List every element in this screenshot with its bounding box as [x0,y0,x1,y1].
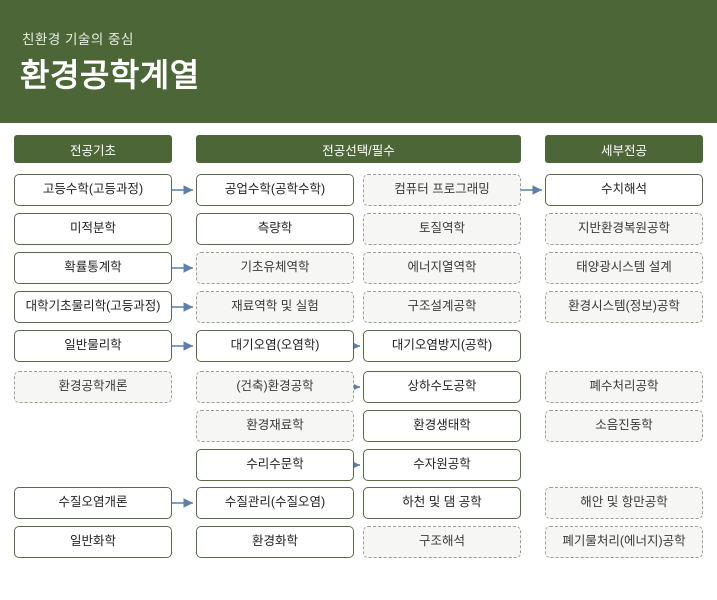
course-node[interactable]: 환경재료학 [196,410,354,442]
diagram-root: 친환경 기술의 중심 환경공학계열 전공기초전공선택/필수세부전공 고등수학(고… [0,0,717,600]
course-node[interactable]: 구조설계공학 [363,291,521,323]
course-node[interactable]: 재료역학 및 실험 [196,291,354,323]
course-node[interactable]: 측량학 [196,213,354,245]
course-node[interactable]: 수리수문학 [196,449,354,481]
course-node[interactable]: 대학기초물리학(고등과정) [14,291,172,323]
course-node[interactable]: 소음진동학 [545,410,703,442]
page-header: 친환경 기술의 중심 환경공학계열 [0,0,717,123]
course-node[interactable]: 환경시스템(정보)공학 [545,291,703,323]
course-node[interactable]: 구조해석 [363,526,521,558]
course-node[interactable]: 미적분학 [14,213,172,245]
course-node[interactable]: (건축)환경공학 [196,371,354,403]
course-node[interactable]: 수질관리(수질오염) [196,487,354,519]
course-node[interactable]: 지반환경복원공학 [545,213,703,245]
course-node[interactable]: 일반화학 [14,526,172,558]
column-header-col-detail: 세부전공 [545,135,703,163]
course-node[interactable]: 토질역학 [363,213,521,245]
course-node[interactable]: 수질오염개론 [14,487,172,519]
column-header-col-major: 전공선택/필수 [196,135,521,163]
course-node[interactable]: 에너지열역학 [363,252,521,284]
page-title: 환경공학계열 [20,50,200,96]
course-node[interactable]: 대기오염(오염학) [196,330,354,362]
course-node[interactable]: 일반물리학 [14,330,172,362]
course-node[interactable]: 공업수학(공학수학) [196,174,354,206]
course-node[interactable]: 태양광시스템 설계 [545,252,703,284]
course-node[interactable]: 하천 및 댐 공학 [363,487,521,519]
course-node[interactable]: 컴퓨터 프로그래밍 [363,174,521,206]
header-subtitle: 친환경 기술의 중심 [22,28,134,48]
course-node[interactable]: 대기오염방지(공학) [363,330,521,362]
course-node[interactable]: 폐수처리공학 [545,371,703,403]
course-node[interactable]: 기초유체역학 [196,252,354,284]
column-header-col-basic: 전공기초 [14,135,172,163]
course-node[interactable]: 환경생태학 [363,410,521,442]
course-node[interactable]: 상하수도공학 [363,371,521,403]
course-node[interactable]: 환경공학개론 [14,371,172,403]
course-node[interactable]: 고등수학(고등과정) [14,174,172,206]
course-node[interactable]: 확률통계학 [14,252,172,284]
course-node[interactable]: 수자원공학 [363,449,521,481]
course-node[interactable]: 해안 및 항만공학 [545,487,703,519]
course-node[interactable]: 수치해석 [545,174,703,206]
course-node[interactable]: 환경화학 [196,526,354,558]
course-node[interactable]: 폐기물처리(에너지)공학 [545,526,703,558]
